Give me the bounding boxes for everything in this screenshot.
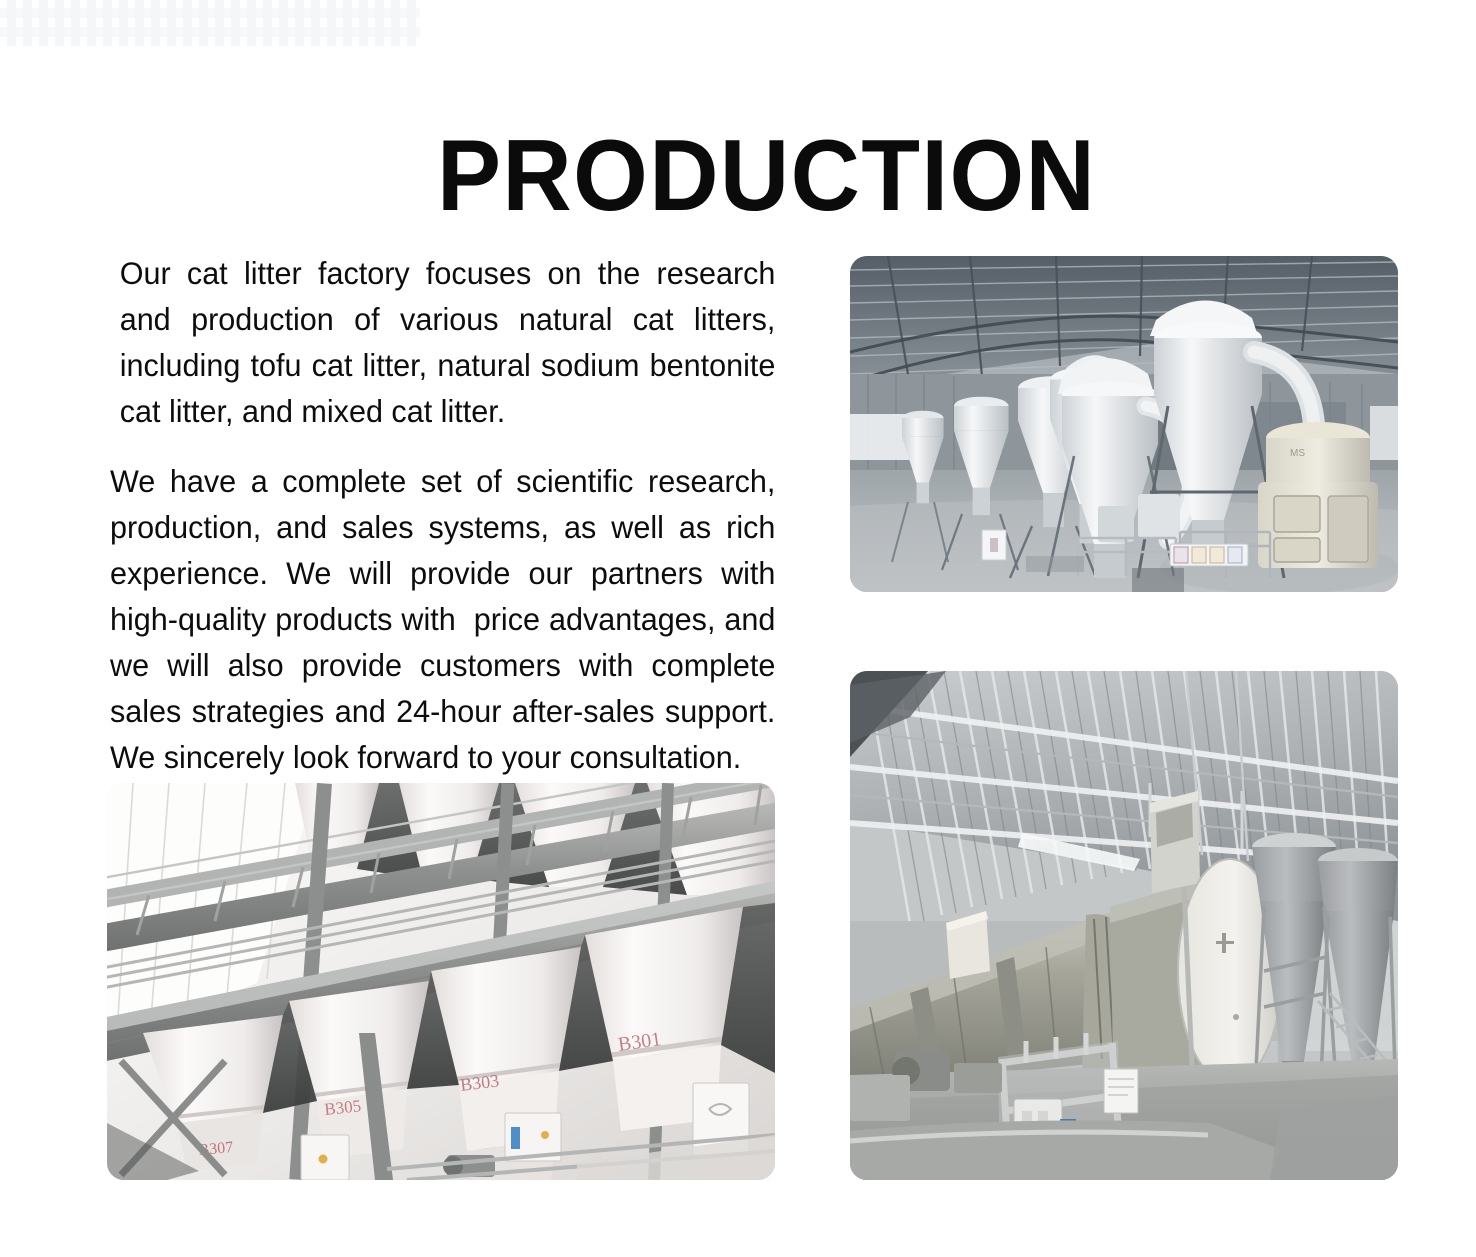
paragraph-2: We have a complete set of scientific res… <box>110 458 775 780</box>
factory-cyclone-mill-hall-photo: MS <box>850 256 1398 592</box>
production-page: PRODUCTION Our cat litter factory focuse… <box>0 0 1476 1257</box>
svg-text:MS: MS <box>1290 448 1305 459</box>
description-text-column: Our cat litter factory focuses on the re… <box>110 250 794 780</box>
rotary-dryer-illustration <box>850 671 1398 1180</box>
rotary-dryer-kiln-photo <box>850 671 1398 1180</box>
svg-text:B305: B305 <box>323 1096 362 1119</box>
paragraph-1: Our cat litter factory focuses on the re… <box>110 250 775 434</box>
silo-hopper-bank-illustration: B307 B305 B303 B301 <box>107 783 775 1180</box>
page-title: PRODUCTION <box>437 126 1096 227</box>
watermark-texture <box>0 0 420 46</box>
silo-hoppers-gantry-photo: B307 B305 B303 B301 <box>107 783 775 1180</box>
cyclone-mill-row-illustration: MS <box>850 256 1398 592</box>
